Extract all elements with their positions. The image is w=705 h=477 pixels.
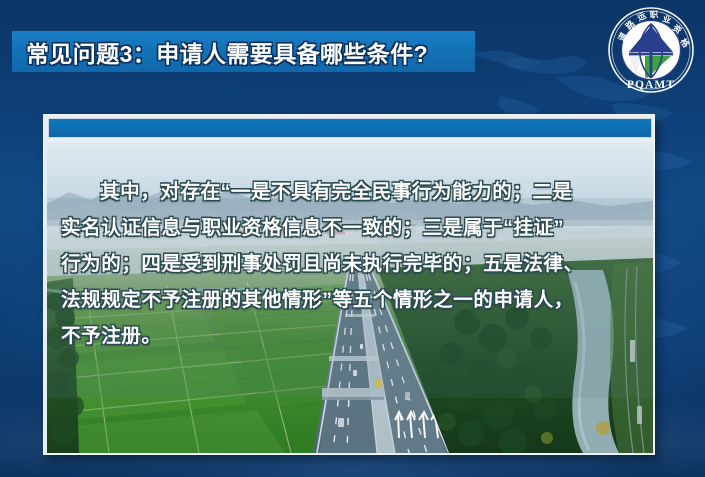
logo-acronym: PQAMT: [627, 79, 675, 91]
body-line: 实名认证信息与职业资格信息不一致的；三是属于“挂证”: [61, 210, 639, 246]
page-title-bar: 常见问题3：申请人需要具备哪些条件?: [12, 31, 475, 72]
page-title: 常见问题3：申请人需要具备哪些条件?: [12, 35, 428, 69]
body-line: 行为的；四是受到刑事处罚且尚未执行完毕的；五是法律、: [61, 246, 639, 282]
body-line: 法规规定不予注册的其他情形”等五个情形之一的申请人，: [61, 282, 639, 318]
card-header-bar: [48, 118, 652, 138]
body-line: 不予注册。: [61, 318, 639, 354]
pqamt-logo: PQAMT 道 路 运 职 业 资 格: [605, 4, 697, 96]
card-body-text: 其中，对存在“一是不具有完全民事行为能力的；二是 实名认证信息与职业资格信息不一…: [61, 174, 639, 354]
slide-root: 常见问题3：申请人需要具备哪些条件? PQAMT 道 路: [0, 0, 705, 477]
body-line: 其中，对存在“一是不具有完全民事行为能力的；二是: [61, 174, 639, 210]
svg-text:职: 职: [649, 9, 659, 20]
content-card: 其中，对存在“一是不具有完全民事行为能力的；二是 实名认证信息与职业资格信息不一…: [43, 114, 655, 455]
